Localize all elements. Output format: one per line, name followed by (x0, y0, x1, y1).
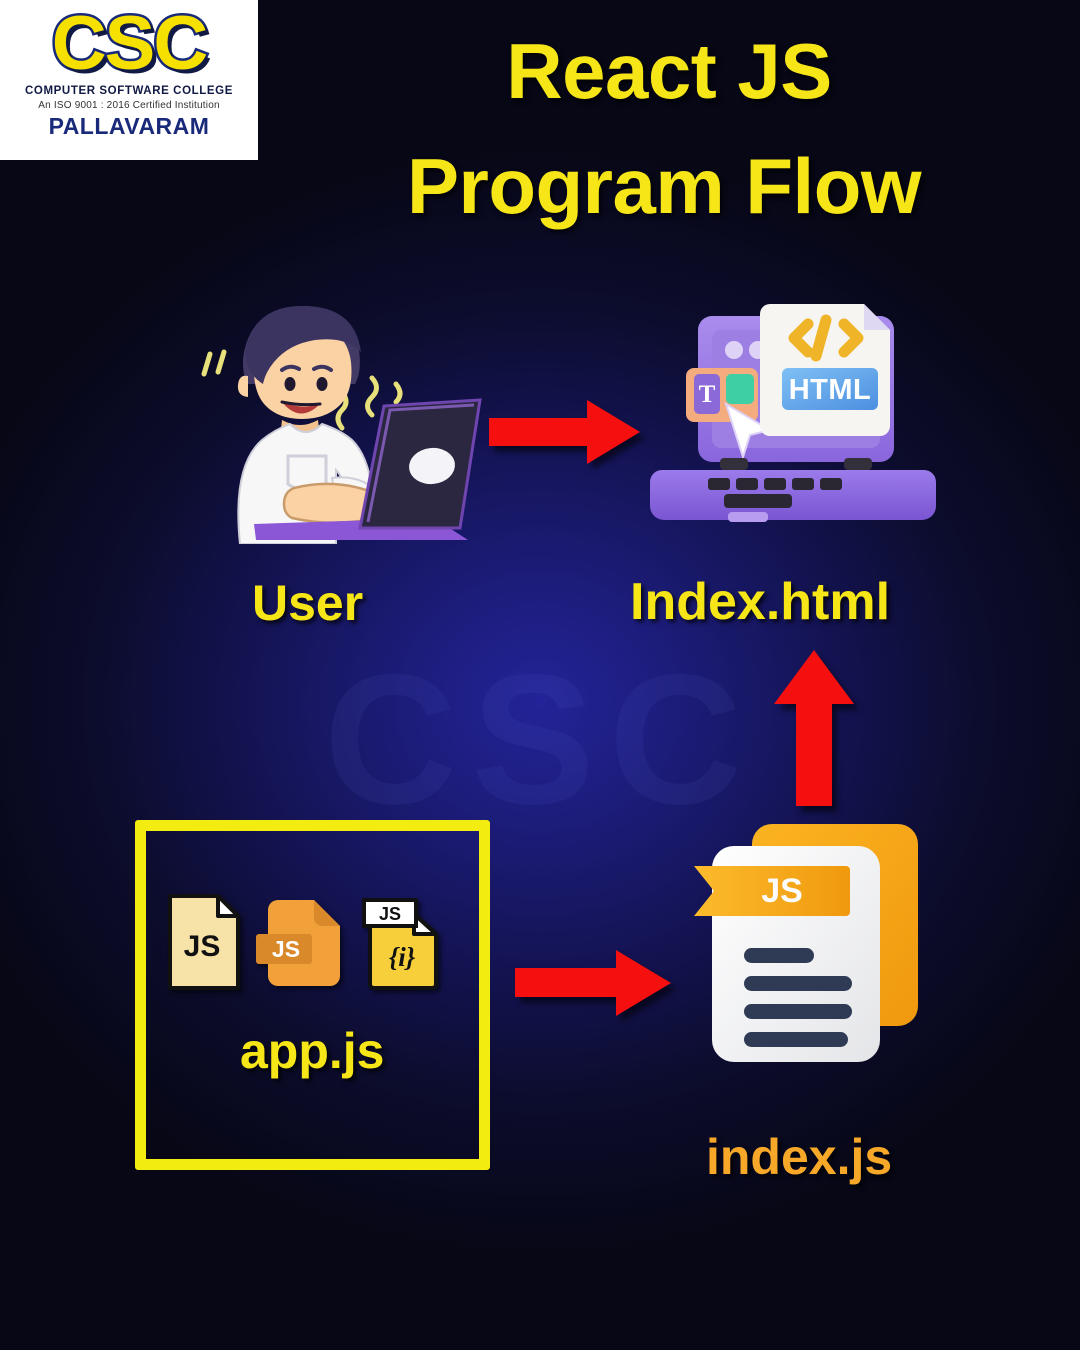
js-file-orange-label: JS (272, 936, 300, 962)
label-index-js: index.js (706, 1128, 892, 1186)
label-index-html: Index.html (630, 572, 890, 632)
label-user: User (252, 574, 363, 632)
arrow-index-js-to-index-html (772, 648, 856, 808)
label-app-js: app.js (240, 1022, 384, 1080)
js-file-interpolation-tab-label: JS (379, 904, 401, 924)
html-badge-text: HTML (789, 374, 872, 406)
js-file-interpolation-glyph: {i} (389, 942, 416, 972)
laptop-html-file-illustration: T HTML (646, 292, 938, 542)
js-ribbon-label: JS (761, 872, 803, 910)
arrow-user-to-index-html (487, 398, 642, 466)
js-file-interpolation-icon: JS {i} (362, 898, 440, 990)
logo-main-text: CSC (52, 8, 206, 80)
js-document-3d-icon: JS (690, 818, 940, 1118)
js-file-plain-label: JS (184, 930, 221, 963)
page-title: React JS Program Flow (258, 14, 1080, 245)
js-file-orange-icon: JS (256, 898, 346, 990)
arrow-app-js-to-index-js (513, 948, 673, 1018)
svg-text:T: T (699, 381, 716, 408)
csc-logo: CSC COMPUTER SOFTWARE COLLEGE An ISO 900… (0, 0, 258, 160)
app-js-icon-row: JS JS JS {i} (168, 885, 458, 990)
csc-watermark: CSC (0, 648, 1080, 833)
poster-canvas: CSC CSC COMPUTER SOFTWARE COLLEGE An ISO… (0, 0, 1080, 1350)
page-title-line-1: React JS (506, 27, 832, 115)
logo-location-text: PALLAVARAM (49, 113, 210, 140)
page-title-line-2: Program Flow (248, 129, 1080, 244)
app-js-group-box (135, 820, 490, 1170)
js-file-plain-icon: JS (168, 894, 240, 990)
logo-tagline: COMPUTER SOFTWARE COLLEGE (25, 85, 233, 97)
logo-iso-text: An ISO 9001 : 2016 Certified Institution (38, 100, 219, 111)
person-at-laptop-illustration (182, 292, 482, 544)
